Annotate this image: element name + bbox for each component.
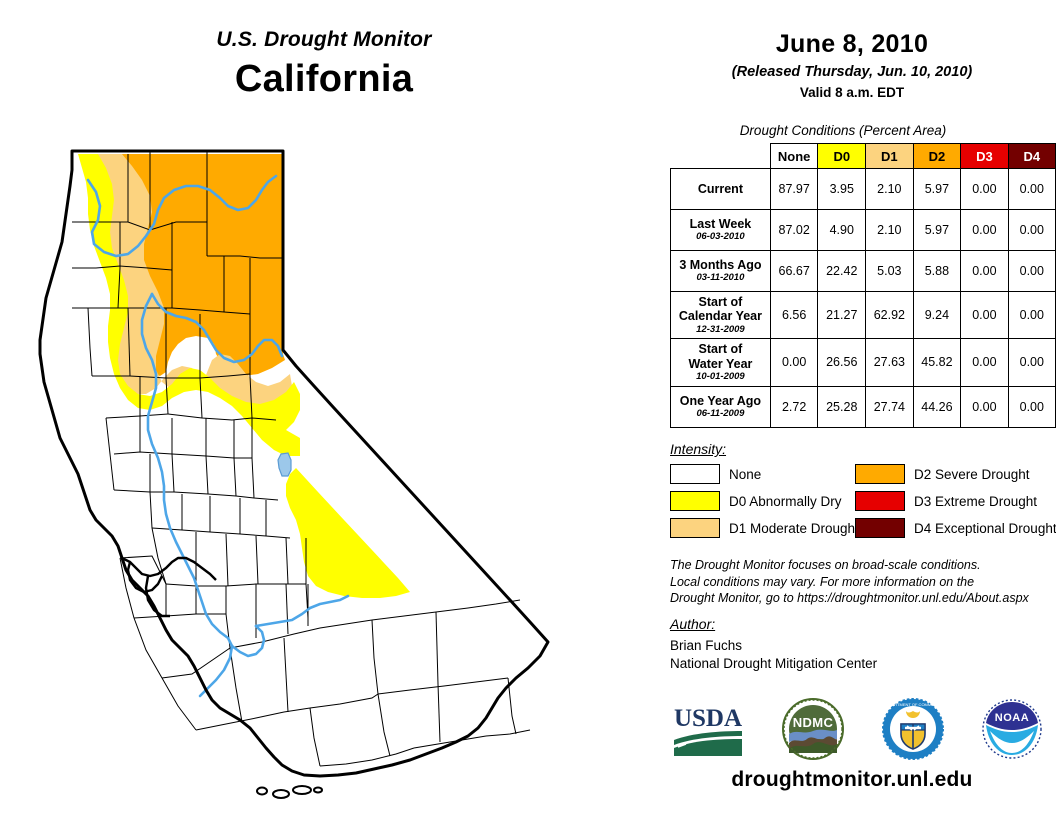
date-block: June 8, 2010 (Released Thursday, Jun. 10… <box>648 30 1056 100</box>
svg-text:NDMC: NDMC <box>793 715 834 730</box>
author-organization: National Drought Mitigation Center <box>670 656 1045 671</box>
table-corner-cell <box>671 144 771 169</box>
cell-d3: 0.00 <box>961 169 1008 210</box>
cell-d1: 27.74 <box>866 386 914 427</box>
disclaimer-line-1: The Drought Monitor focuses on broad-sca… <box>670 557 1045 574</box>
column-header-none: None <box>770 144 818 169</box>
legend-swatch <box>855 464 905 484</box>
cell-d4: 0.00 <box>1008 292 1055 339</box>
cell-d1: 5.03 <box>866 251 914 292</box>
legend-item-d3[interactable]: D3 Extreme Drought <box>855 491 1056 511</box>
disclaimer-text: The Drought Monitor focuses on broad-sca… <box>670 557 1045 607</box>
noaa-logo[interactable]: NOAA <box>980 697 1044 761</box>
cell-d0: 26.56 <box>818 339 866 386</box>
table-row: Start ofCalendar Year12-31-20096.5621.27… <box>671 292 1056 339</box>
page-title: California <box>0 58 648 101</box>
cell-d0: 21.27 <box>818 292 866 339</box>
table-row: One Year Ago06-11-20092.7225.2827.7444.2… <box>671 386 1056 427</box>
table-row: Start ofWater Year10-01-20090.0026.5627.… <box>671 339 1056 386</box>
legend-item-d4[interactable]: D4 Exceptional Drought <box>855 518 1056 538</box>
intensity-legend: Intensity: NoneD2 Severe DroughtD0 Abnor… <box>670 441 1050 538</box>
map-svg <box>0 118 648 808</box>
cell-d2: 5.97 <box>913 210 961 251</box>
cell-d4: 0.00 <box>1008 169 1055 210</box>
cell-d1: 2.10 <box>866 169 914 210</box>
legend-label: D0 Abnormally Dry <box>729 494 842 509</box>
valid-time: Valid 8 a.m. EDT <box>648 85 1056 100</box>
table-row: Last Week06-03-201087.024.902.105.970.00… <box>671 210 1056 251</box>
column-header-d3: D3 <box>961 144 1008 169</box>
cell-d2: 44.26 <box>913 386 961 427</box>
cell-d2: 9.24 <box>913 292 961 339</box>
svg-text:NOAA: NOAA <box>995 712 1029 724</box>
info-panel: June 8, 2010 (Released Thursday, Jun. 10… <box>648 0 1056 816</box>
release-date: (Released Thursday, Jun. 10, 2010) <box>648 64 1056 80</box>
site-url[interactable]: droughtmonitor.unl.edu <box>648 768 1056 792</box>
cell-d0: 4.90 <box>818 210 866 251</box>
cell-none: 6.56 <box>770 292 818 339</box>
row-date: 10-01-2009 <box>673 372 768 383</box>
legend-label: D4 Exceptional Drought <box>914 521 1056 536</box>
cell-d0: 22.42 <box>818 251 866 292</box>
column-header-d4: D4 <box>1008 144 1055 169</box>
row-label: Start ofWater Year10-01-2009 <box>671 339 771 386</box>
author-name: Brian Fuchs <box>670 638 1045 653</box>
table-header-row: None D0 D1 D2 D3 D4 <box>671 144 1056 169</box>
cell-d1: 62.92 <box>866 292 914 339</box>
cell-d1: 27.63 <box>866 339 914 386</box>
table-body: Current87.973.952.105.970.000.00Last Wee… <box>671 169 1056 428</box>
cell-d0: 25.28 <box>818 386 866 427</box>
cell-none: 0.00 <box>770 339 818 386</box>
table-row: 3 Months Ago03-11-201066.6722.425.035.88… <box>671 251 1056 292</box>
drought-area-d0-east <box>286 468 410 598</box>
legend-grid: NoneD2 Severe DroughtD0 Abnormally DryD3… <box>670 464 1050 538</box>
ndmc-logo[interactable]: NDMC <box>781 697 845 761</box>
lake-tahoe <box>278 453 291 476</box>
cell-d0: 3.95 <box>818 169 866 210</box>
svg-text:USDA: USDA <box>674 705 742 732</box>
legend-label: D1 Moderate Drought <box>729 521 859 536</box>
cell-none: 2.72 <box>770 386 818 427</box>
column-header-d1: D1 <box>866 144 914 169</box>
cell-d3: 0.00 <box>961 292 1008 339</box>
column-header-d0: D0 <box>818 144 866 169</box>
map-title-block: U.S. Drought Monitor California <box>0 28 648 101</box>
table-caption: Drought Conditions (Percent Area) <box>648 123 1038 138</box>
row-label: Start ofCalendar Year12-31-2009 <box>671 292 771 339</box>
cell-none: 87.02 <box>770 210 818 251</box>
row-date: 06-03-2010 <box>673 232 768 243</box>
cell-d3: 0.00 <box>961 386 1008 427</box>
cell-d3: 0.00 <box>961 339 1008 386</box>
cell-d4: 0.00 <box>1008 386 1055 427</box>
issue-date: June 8, 2010 <box>648 30 1056 59</box>
disclaimer-line-2: Local conditions may vary. For more info… <box>670 574 1045 591</box>
intensity-title: Intensity: <box>670 441 1050 457</box>
sf-bay-detail <box>122 558 216 616</box>
row-date: 06-11-2009 <box>673 409 768 420</box>
column-header-d2: D2 <box>913 144 961 169</box>
cell-d2: 5.88 <box>913 251 961 292</box>
author-block: Author: Brian Fuchs National Drought Mit… <box>670 616 1045 671</box>
row-date: 12-31-2009 <box>673 325 768 336</box>
svg-text:DEPARTMENT OF COMMERCE: DEPARTMENT OF COMMERCE <box>883 702 942 707</box>
cell-none: 87.97 <box>770 169 818 210</box>
map-panel: U.S. Drought Monitor California <box>0 0 648 816</box>
legend-item-d2[interactable]: D2 Severe Drought <box>855 464 1056 484</box>
cell-d4: 0.00 <box>1008 210 1055 251</box>
legend-item-d0[interactable]: D0 Abnormally Dry <box>670 491 845 511</box>
legend-item-none[interactable]: None <box>670 464 845 484</box>
row-label: Last Week06-03-2010 <box>671 210 771 251</box>
usdoc-logo[interactable]: DEPARTMENT OF COMMERCE <box>881 697 945 761</box>
usda-logo[interactable]: USDA <box>670 700 746 758</box>
legend-label: None <box>729 467 761 482</box>
legend-swatch <box>855 491 905 511</box>
legend-swatch <box>855 518 905 538</box>
legend-label: D2 Severe Drought <box>914 467 1030 482</box>
table-row: Current87.973.952.105.970.000.00 <box>671 169 1056 210</box>
cell-d2: 45.82 <box>913 339 961 386</box>
cell-d1: 2.10 <box>866 210 914 251</box>
row-label: Current <box>671 169 771 210</box>
author-title: Author: <box>670 616 1045 632</box>
legend-swatch <box>670 464 720 484</box>
legend-label: D3 Extreme Drought <box>914 494 1037 509</box>
logo-row: USDA NDMC DEPARTMENT OF COMMER <box>662 690 1052 768</box>
map-supertitle: U.S. Drought Monitor <box>0 28 648 52</box>
legend-swatch <box>670 518 720 538</box>
row-label: One Year Ago06-11-2009 <box>671 386 771 427</box>
legend-item-d1[interactable]: D1 Moderate Drought <box>670 518 845 538</box>
legend-swatch <box>670 491 720 511</box>
row-date: 03-11-2010 <box>673 273 768 284</box>
cell-d4: 0.00 <box>1008 251 1055 292</box>
channel-islands <box>257 786 354 808</box>
cell-d4: 0.00 <box>1008 339 1055 386</box>
cell-d2: 5.97 <box>913 169 961 210</box>
california-drought-map[interactable] <box>0 118 648 808</box>
cell-d3: 0.00 <box>961 251 1008 292</box>
drought-conditions-table: None D0 D1 D2 D3 D4 Current87.973.952.10… <box>670 143 1056 428</box>
cell-d3: 0.00 <box>961 210 1008 251</box>
cell-none: 66.67 <box>770 251 818 292</box>
disclaimer-line-3: Drought Monitor, go to https://droughtmo… <box>670 590 1045 607</box>
row-label: 3 Months Ago03-11-2010 <box>671 251 771 292</box>
